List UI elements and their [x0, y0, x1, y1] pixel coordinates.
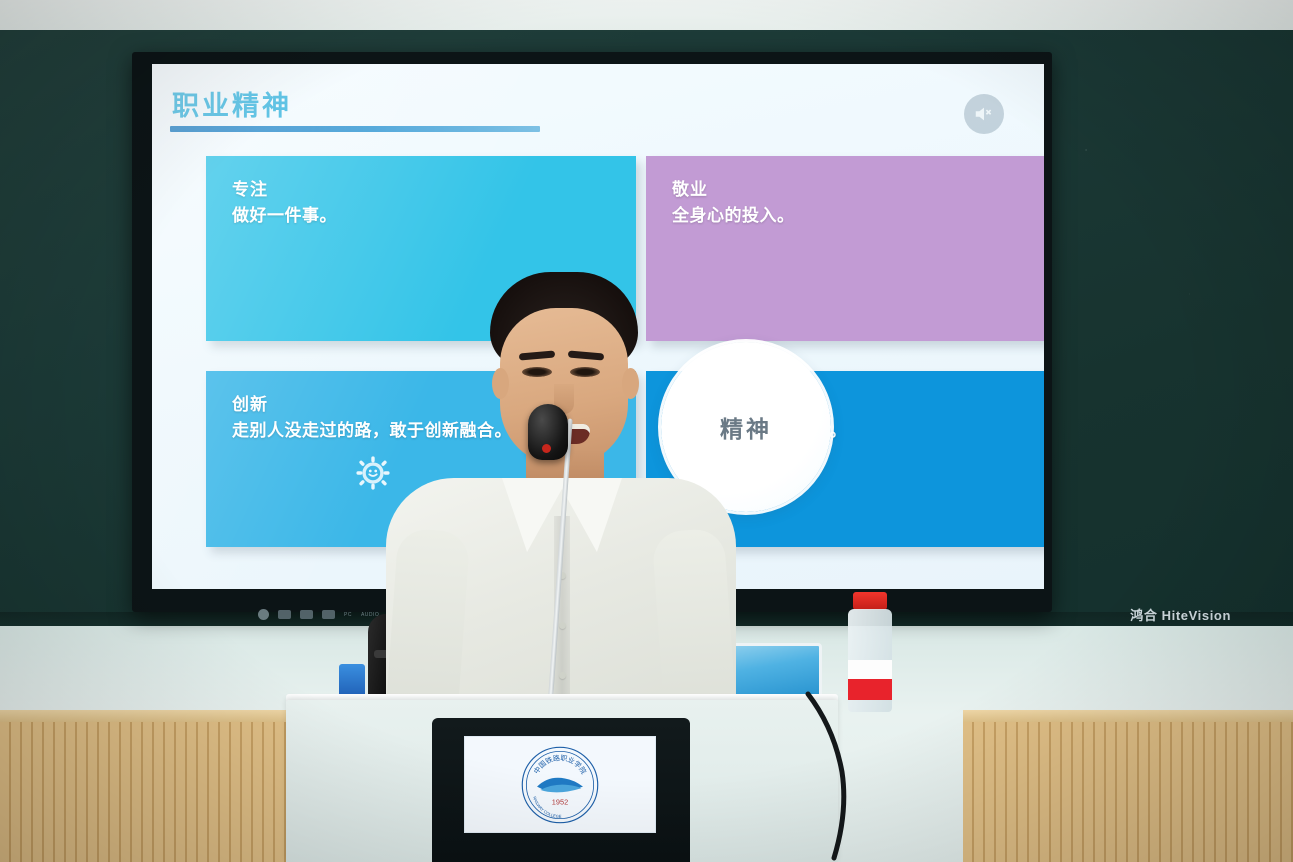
presenter-speaking: [386, 272, 736, 720]
power-button[interactable]: [258, 609, 269, 620]
blue-device: [339, 664, 365, 698]
presenter-eye-right: [570, 367, 600, 377]
card-heading: 专注: [232, 178, 610, 203]
power-cable: [790, 690, 940, 862]
card-body: 做好一件事。: [232, 203, 610, 229]
speaker-muted-icon[interactable]: [964, 94, 1004, 134]
railway-college-emblem: 1952 中国铁路职业学院 RAILWAY COLLEGE: [464, 736, 656, 833]
vga-port[interactable]: [300, 610, 313, 619]
gooseneck-microphone[interactable]: [528, 404, 568, 460]
wood-acoustic-panel-left: [0, 710, 300, 862]
card-body: 全身心的投入。: [672, 203, 1040, 229]
emblem-year: 1952: [552, 797, 568, 806]
card-heading: 敬业: [672, 178, 1040, 203]
bottle-cap: [853, 592, 887, 610]
wood-acoustic-panel-right: [963, 710, 1293, 862]
presenter-eye-left: [522, 367, 552, 377]
hdmi-port[interactable]: [322, 610, 335, 619]
source-button[interactable]: [278, 610, 291, 619]
title-underline: [170, 126, 540, 132]
lecture-room-photo: 职业精神 专注 做好一件事。 敬业 全身心的投入。 创新 走别人没走过的路，敢于…: [0, 0, 1293, 862]
panel-cap-left: [0, 710, 300, 722]
presenter-sleeve-right: [652, 528, 737, 719]
display-brand-label: 鸿合 HiteVision: [1130, 605, 1231, 624]
shirt-button: [559, 672, 566, 679]
svg-text:中国铁路职业学院: 中国铁路职业学院: [532, 753, 589, 775]
pc-port-label[interactable]: PC: [344, 612, 352, 618]
panel-cap-right: [963, 710, 1293, 722]
presenter-sleeve-left: [386, 528, 471, 719]
slide-title: 职业精神: [172, 84, 292, 123]
presenter-ear-right: [622, 368, 639, 399]
shirt-button: [559, 622, 566, 629]
gear-sun-icon: [356, 456, 390, 490]
presenter-ear-left: [492, 368, 509, 399]
